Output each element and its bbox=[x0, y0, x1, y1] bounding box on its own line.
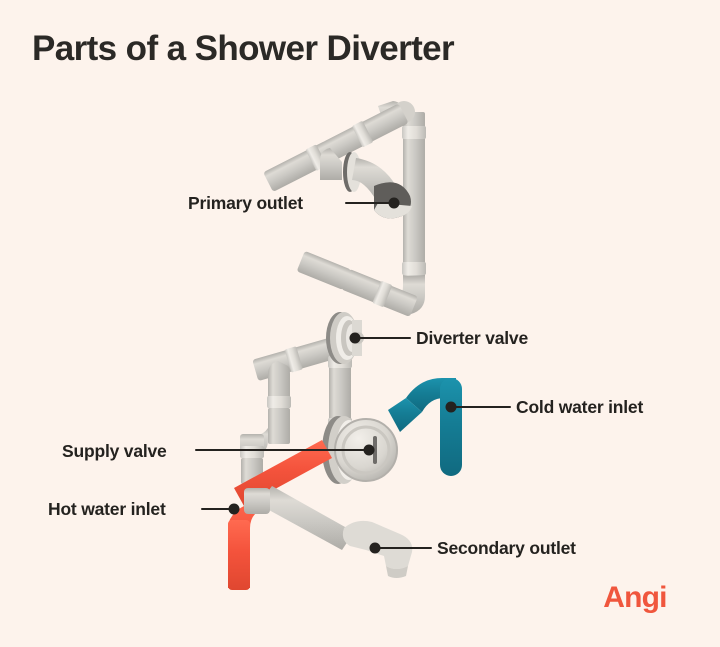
label-secondary-outlet: Secondary outlet bbox=[437, 538, 576, 558]
brand-logo-text: Angi bbox=[603, 581, 666, 614]
shower-diverter-diagram: Parts of a Shower Diverter bbox=[0, 0, 720, 647]
diverter-feed-pipe bbox=[297, 251, 419, 318]
leader-primary-outlet bbox=[346, 198, 400, 209]
label-diverter-valve: Diverter valve bbox=[416, 328, 528, 348]
leader-hot-water-inlet bbox=[202, 504, 240, 515]
label-cold-water-inlet: Cold water inlet bbox=[516, 397, 643, 417]
brand-logo[interactable]: Angi bbox=[603, 581, 666, 614]
page-title: Parts of a Shower Diverter bbox=[32, 29, 455, 68]
label-primary-outlet: Primary outlet bbox=[188, 193, 303, 213]
cold-inlet-pipe bbox=[388, 378, 462, 476]
leader-diverter-valve bbox=[350, 333, 411, 344]
label-hot-water-inlet: Hot water inlet bbox=[48, 499, 166, 519]
infographic-canvas: Parts of a Shower Diverter bbox=[0, 0, 720, 647]
secondary-outlet-branch bbox=[244, 486, 354, 550]
label-supply-valve: Supply valve bbox=[62, 441, 167, 461]
